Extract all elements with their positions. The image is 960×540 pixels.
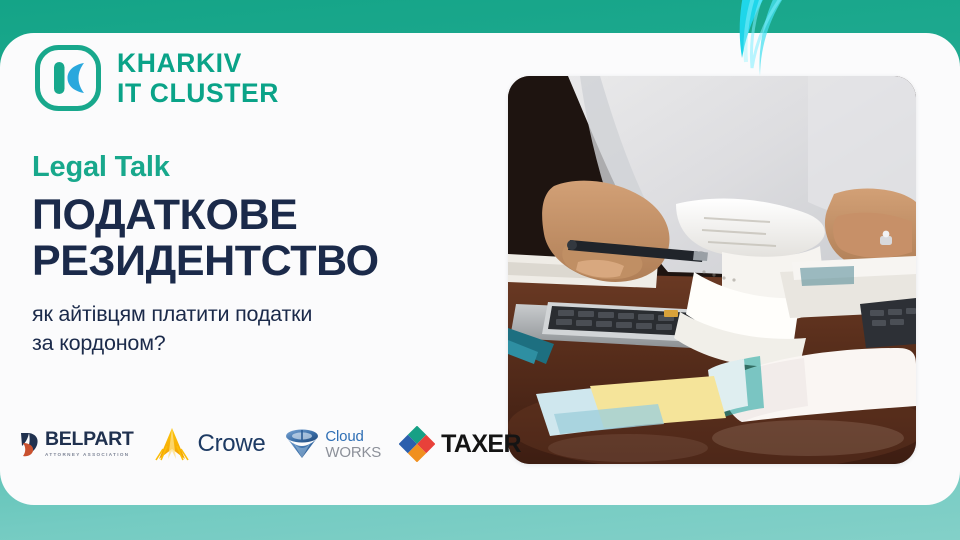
belpart-tagline: ATTORNEY ASSOCIATION	[45, 453, 134, 458]
subheading-line-2: за кордоном?	[32, 329, 492, 358]
partner-logo-cloudworks[interactable]: Cloud WORKS	[283, 421, 381, 467]
partner-logo-crowe[interactable]: Crowe	[152, 421, 266, 467]
subheading: як айтівцям платити податки за кордоном?	[32, 300, 492, 357]
taxer-name: TAXER	[441, 432, 521, 457]
brand-line-1: KHARKIV	[117, 50, 279, 77]
headline-line-2: РЕЗИДЕНТСТВО	[32, 239, 492, 285]
page-title: ПОДАТКОВЕ РЕЗИДЕНТСТВО	[32, 193, 492, 284]
taxer-pinwheel-icon	[399, 426, 435, 462]
kharkiv-it-cluster-monogram-icon	[32, 42, 104, 114]
cloudworks-funnel-icon	[283, 427, 323, 461]
crowe-chevron-icon	[152, 425, 192, 463]
kicker-label: Legal Talk	[32, 153, 492, 182]
crowe-name: Crowe	[198, 432, 266, 456]
partner-logo-taxer[interactable]: TAXER	[399, 421, 521, 467]
headline-line-1: ПОДАТКОВЕ	[32, 193, 492, 239]
partner-logo-strip: BELPART ATTORNEY ASSOCIATION Crowe	[18, 417, 488, 471]
poster-canvas: KHARKIV IT CLUSTER Legal Talk ПОДАТКОВЕ …	[0, 0, 960, 540]
belpart-mark-icon	[18, 429, 40, 459]
belpart-name: BELPART	[45, 430, 134, 450]
subheading-line-1: як айтівцям платити податки	[32, 300, 492, 329]
hero-photo	[508, 76, 916, 464]
cloudworks-name-part1: Cloud	[325, 429, 381, 444]
cloudworks-name-part2: WORKS	[325, 445, 381, 460]
left-content-column: KHARKIV IT CLUSTER Legal Talk ПОДАТКОВЕ …	[32, 39, 492, 357]
partner-logo-belpart[interactable]: BELPART ATTORNEY ASSOCIATION	[18, 421, 134, 467]
brand-line-2: IT CLUSTER	[117, 80, 279, 107]
brand-lockup[interactable]: KHARKIV IT CLUSTER	[32, 39, 492, 117]
brand-wordmark: KHARKIV IT CLUSTER	[117, 50, 279, 107]
